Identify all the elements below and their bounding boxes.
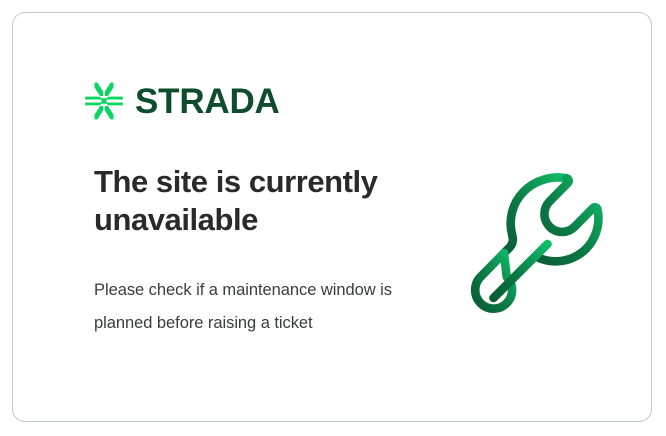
message-block: The site is currently unavailable Please… (94, 163, 424, 340)
page-root: STRADA The site is currently unavailable… (0, 0, 666, 436)
brand-wordmark: STRADA (135, 84, 280, 119)
wrench-icon (465, 165, 625, 325)
page-description: Please check if a maintenance window is … (94, 274, 394, 340)
status-card: STRADA The site is currently unavailable… (12, 12, 652, 422)
brand-lockup: STRADA (82, 79, 280, 123)
strada-asterisk-icon (82, 79, 126, 123)
page-title: The site is currently unavailable (94, 163, 424, 238)
